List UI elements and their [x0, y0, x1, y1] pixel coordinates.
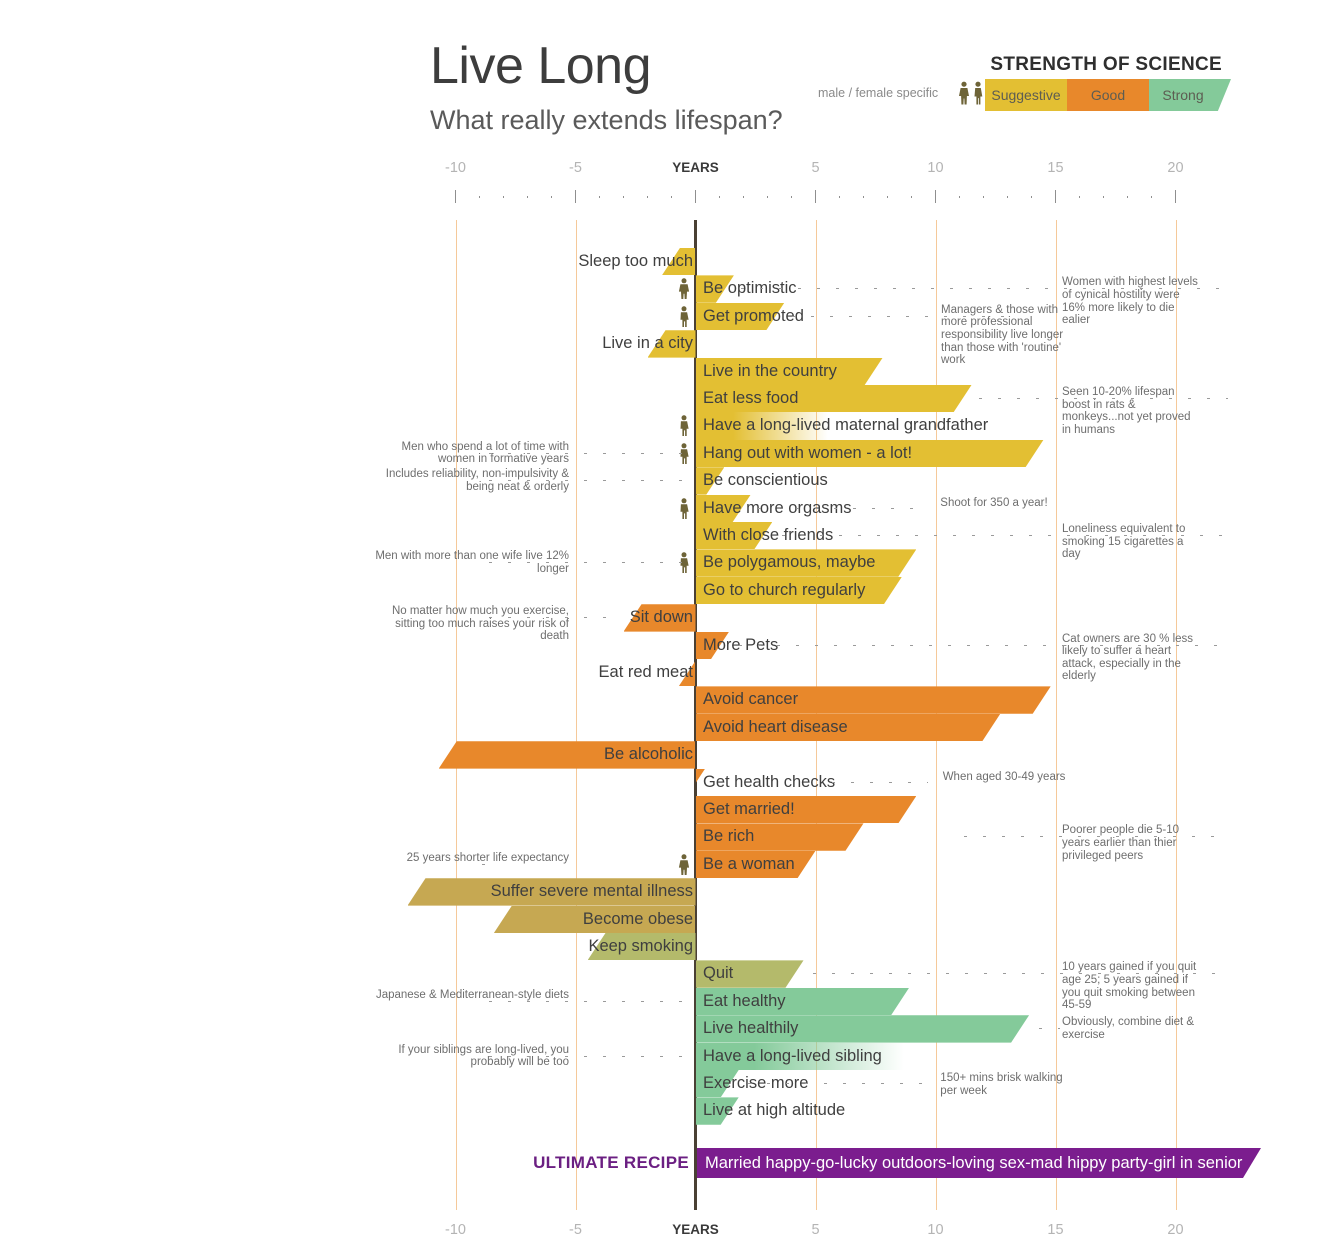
- chart-row[interactable]: Get married!: [0, 796, 1344, 823]
- chart-row[interactable]: Live in a city: [0, 330, 1344, 357]
- axis-minor-tick: [551, 196, 553, 198]
- axis-minor-tick: [791, 196, 793, 198]
- annotation-dots-left: [489, 1001, 691, 1002]
- annotation-dots-right: [1039, 1028, 1061, 1029]
- axis-minor-tick: [743, 196, 745, 198]
- bar-label: Be a woman: [703, 851, 795, 878]
- axis-minor-tick: [1007, 196, 1009, 198]
- annotation-inline: 150+ mins brisk walking per week: [940, 1072, 1070, 1097]
- chart-row[interactable]: Have a long-lived siblingIf your sibling…: [0, 1043, 1344, 1070]
- annotation-inline: When aged 30-49 years: [943, 771, 1073, 784]
- legend-strong[interactable]: Strong: [1149, 79, 1231, 111]
- chart-row[interactable]: Eat red meat: [0, 659, 1344, 686]
- chart-row[interactable]: With close friendsLoneliness equivalent …: [0, 522, 1344, 549]
- bar-label: Become obese: [583, 906, 693, 933]
- axis-tick-label: 5: [811, 1222, 819, 1238]
- bar-label: Get married!: [703, 796, 795, 823]
- bar-label: Eat healthy: [703, 988, 786, 1015]
- annotation-dots-left: [489, 453, 683, 454]
- bar-label: Have a long-lived maternal grandfather: [703, 412, 988, 439]
- chart-row[interactable]: More PetsCat owners are 30 % less likely…: [0, 632, 1344, 659]
- axis-minor-tick: [983, 196, 985, 198]
- bar-label: Have a long-lived sibling: [703, 1043, 882, 1070]
- annotation-dots-left: [489, 1056, 691, 1057]
- bar-label: Live at high altitude: [703, 1097, 845, 1124]
- axis-tick-label: 20: [1167, 160, 1183, 176]
- annotation-dots-right: [739, 645, 1229, 646]
- axis-tick-label: -10: [445, 1222, 466, 1238]
- female-icon: [678, 854, 690, 875]
- axis-major-tick: [815, 190, 817, 203]
- chart-row[interactable]: Live in the country: [0, 358, 1344, 385]
- axis-top-ticks: [0, 190, 1344, 206]
- axis-minor-tick: [647, 196, 649, 198]
- axis-minor-tick: [839, 196, 841, 198]
- axis-tick-label: -5: [569, 160, 582, 176]
- bar-label: Eat less food: [703, 385, 798, 412]
- axis-minor-tick: [503, 196, 505, 198]
- bar-label: Get health checks: [703, 769, 835, 796]
- axis-minor-tick: [911, 196, 913, 198]
- chart-row[interactable]: Suffer severe mental illness: [0, 878, 1344, 905]
- bar-label: Avoid cancer: [703, 686, 798, 713]
- chart-row[interactable]: Live at high altitude: [0, 1097, 1344, 1124]
- axis-tick-label: YEARS: [672, 1222, 719, 1237]
- axis-tick-label: YEARS: [672, 160, 719, 175]
- chart-row[interactable]: Exercise more150+ mins brisk walking per…: [0, 1070, 1344, 1097]
- strength-of-science-title: STRENGTH OF SCIENCE: [990, 54, 1222, 76]
- chart-row[interactable]: Be alcoholic: [0, 741, 1344, 768]
- axis-minor-tick: [1151, 196, 1153, 198]
- axis-tick-label: -10: [445, 160, 466, 176]
- annotation-dots-left: [489, 617, 614, 618]
- male-icon: [678, 415, 690, 436]
- chart-row[interactable]: Avoid cancer: [0, 686, 1344, 713]
- bar-label: Get promoted: [703, 303, 804, 330]
- strength-legend: Suggestive Good Strong: [985, 79, 1231, 111]
- legend-suggestive[interactable]: Suggestive: [985, 79, 1067, 111]
- bar-label: Live in the country: [703, 358, 837, 385]
- chart-row[interactable]: Have a long-lived maternal grandfather: [0, 412, 1344, 439]
- annotation-right: Obviously, combine diet & exercise: [1062, 1016, 1202, 1041]
- annotation-inline: Shoot for 350 a year!: [940, 497, 1070, 510]
- axis-bottom: -10-5YEARS5101520: [0, 1222, 1344, 1248]
- annotation-dots-right: [813, 973, 1228, 974]
- ultimate-recipe-label: ULTIMATE RECIPE: [533, 1148, 689, 1178]
- annotation-left: Japanese & Mediterranean-style diets: [369, 989, 569, 1002]
- axis-top: -10-5YEARS5101520: [0, 160, 1344, 220]
- axis-minor-tick: [863, 196, 865, 198]
- bar-label: Go to church regularly: [703, 577, 865, 604]
- annotation-dots-right: [979, 398, 1229, 399]
- male-icon: [678, 306, 690, 327]
- bar-label: Sit down: [630, 604, 693, 631]
- axis-minor-tick: [599, 196, 601, 198]
- bar-label: Keep smoking: [588, 933, 693, 960]
- bar-label: Suffer severe mental illness: [491, 878, 693, 905]
- annotation-dots-left: [482, 864, 487, 865]
- page-subtitle: What really extends lifespan?: [430, 107, 783, 134]
- annotation-dots-right: [964, 836, 1228, 837]
- chart-row[interactable]: Eat less foodSeen 10-20% lifespan boost …: [0, 385, 1344, 412]
- axis-minor-tick: [527, 196, 529, 198]
- bar-label: Hang out with women - a lot!: [703, 440, 912, 467]
- axis-tick-label: 10: [927, 160, 943, 176]
- axis-minor-tick: [767, 196, 769, 198]
- bar-label: Be polygamous, maybe: [703, 549, 875, 576]
- chart-row[interactable]: Quit10 years gained if you quit age 25; …: [0, 960, 1344, 987]
- axis-minor-tick: [1031, 196, 1033, 198]
- male-female-icons: [958, 81, 988, 105]
- chart-row[interactable]: Sleep too much: [0, 248, 1344, 275]
- bar-label: Be alcoholic: [604, 741, 693, 768]
- axis-minor-tick: [959, 196, 961, 198]
- axis-major-tick: [695, 190, 697, 203]
- chart-row[interactable]: Live healthilyObviously, combine diet & …: [0, 1015, 1344, 1042]
- axis-tick-label: 5: [811, 160, 819, 176]
- axis-major-tick: [455, 190, 457, 203]
- chart-row[interactable]: Hang out with women - a lot!Men who spen…: [0, 440, 1344, 467]
- bar-label: Be rich: [703, 823, 754, 850]
- annotation-dots-left: [489, 562, 683, 563]
- bar-label: Quit: [703, 960, 733, 987]
- axis-tick-label: 15: [1047, 1222, 1063, 1238]
- bar-label: Avoid heart disease: [703, 714, 848, 741]
- legend-good[interactable]: Good: [1067, 79, 1149, 111]
- chart-row[interactable]: Sit downNo matter how much you exercise,…: [0, 604, 1344, 631]
- axis-major-tick: [1055, 190, 1057, 203]
- bar-label: Eat red meat: [599, 659, 693, 686]
- axis-tick-label: 10: [927, 1222, 943, 1238]
- chart-row[interactable]: Be polygamous, maybeMen with more than o…: [0, 549, 1344, 576]
- chart-row[interactable]: Eat healthyJapanese & Mediterranean-styl…: [0, 988, 1344, 1015]
- female-icon: [678, 278, 690, 299]
- axis-tick-label: -5: [569, 1222, 582, 1238]
- annotation-dots-right: [748, 1083, 926, 1084]
- bar-label: Sleep too much: [578, 248, 693, 275]
- chart-row[interactable]: Be richPoorer people die 5-10 years earl…: [0, 823, 1344, 850]
- chart-row[interactable]: Go to church regularly: [0, 577, 1344, 604]
- axis-minor-tick: [1127, 196, 1129, 198]
- axis-minor-tick: [623, 196, 625, 198]
- bar-label: Live in a city: [602, 330, 693, 357]
- male-female-legend-label: male / female specific: [818, 86, 938, 100]
- chart-row[interactable]: Avoid heart disease: [0, 714, 1344, 741]
- chart-row[interactable]: Keep smoking: [0, 933, 1344, 960]
- chart-row[interactable]: Be conscientiousIncludes reliability, no…: [0, 467, 1344, 494]
- axis-tick-label: 15: [1047, 160, 1063, 176]
- axis-minor-tick: [1103, 196, 1105, 198]
- axis-major-tick: [1175, 190, 1177, 203]
- chart-row[interactable]: Be optimisticWomen with highest levels o…: [0, 275, 1344, 302]
- axis-tick-label: 20: [1167, 1222, 1183, 1238]
- axis-minor-tick: [887, 196, 889, 198]
- annotation-dots-right: [832, 782, 928, 783]
- bar-label: Live healthily: [703, 1015, 798, 1042]
- axis-minor-tick: [719, 196, 721, 198]
- bar-label: Be conscientious: [703, 467, 828, 494]
- axis-minor-tick: [671, 196, 673, 198]
- annotation-dots-right: [741, 288, 1228, 289]
- male-icon: [678, 498, 690, 519]
- chart-row[interactable]: Get promotedManagers & those with more p…: [0, 303, 1344, 330]
- annotation-dots-left: [489, 480, 691, 481]
- infographic-root: Live Long What really extends lifespan? …: [0, 0, 1344, 1248]
- chart-row[interactable]: Become obese: [0, 906, 1344, 933]
- axis-major-tick: [935, 190, 937, 203]
- page-title: Live Long: [430, 40, 651, 92]
- chart-row[interactable]: Have more orgasmsShoot for 350 a year!: [0, 495, 1344, 522]
- annotation-left: 25 years shorter life expectancy: [369, 852, 569, 865]
- axis-minor-tick: [479, 196, 481, 198]
- axis-minor-tick: [1079, 196, 1081, 198]
- ultimate-recipe-text: Married happy-go-lucky outdoors-loving s…: [705, 1148, 1245, 1178]
- axis-major-tick: [575, 190, 577, 203]
- annotation-dots-right: [782, 535, 1228, 536]
- annotation-dots-right: [792, 316, 1020, 317]
- chart-plot-area: Sleep too muchBe optimisticWomen with hi…: [0, 220, 1344, 1210]
- chart-row[interactable]: Get health checksWhen aged 30-49 years: [0, 769, 1344, 796]
- annotation-dots-right: [758, 508, 926, 509]
- chart-row[interactable]: Be a woman25 years shorter life expectan…: [0, 851, 1344, 878]
